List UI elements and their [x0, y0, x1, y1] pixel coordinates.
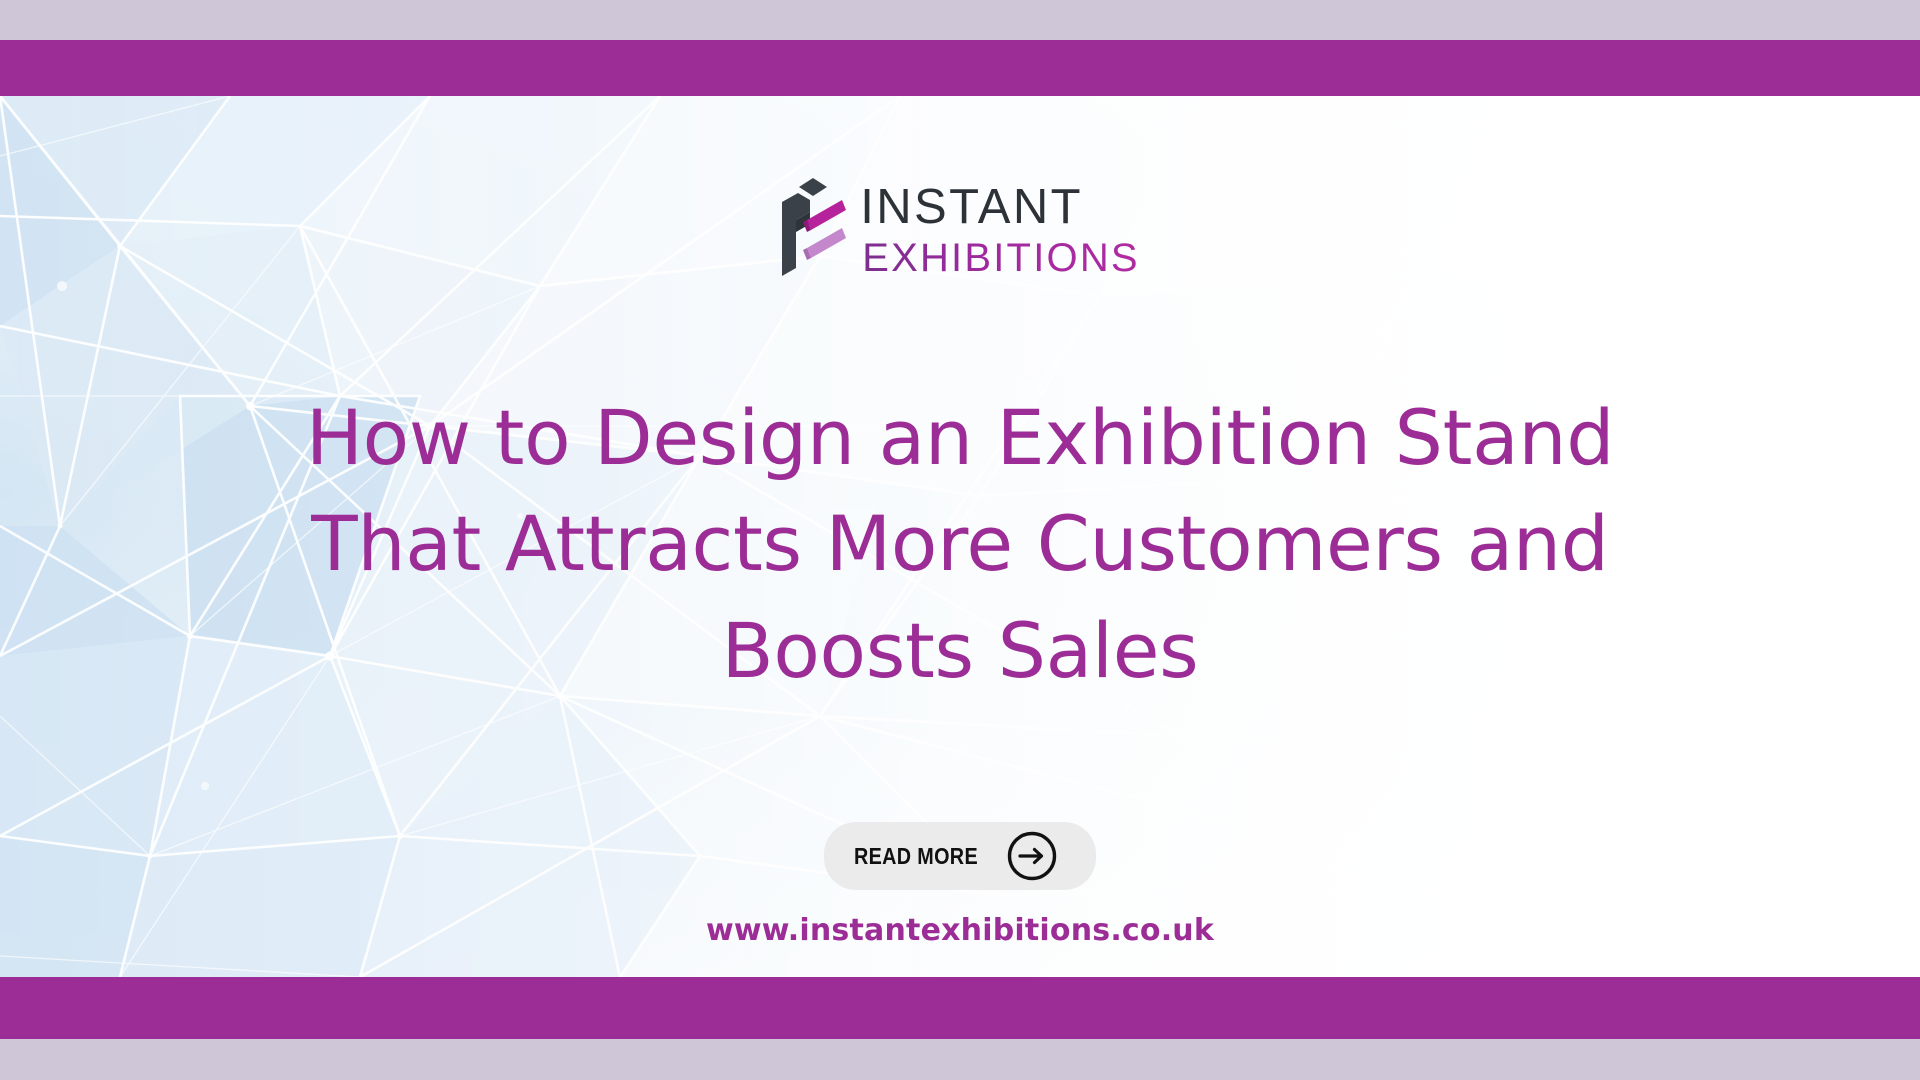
page-title: How to Design an Exhibition Stand That A…: [260, 385, 1660, 704]
read-more-cta-container: READ MORE: [0, 822, 1920, 890]
brand-logo[interactable]: INSTANT EXHIBITIONS: [0, 176, 1920, 284]
instant-exhibitions-mark-icon: [780, 176, 846, 284]
poster-canvas: INSTANT EXHIBITIONS How to Design an Exh…: [0, 0, 1920, 1080]
brand-name-secondary: EXHIBITIONS: [862, 238, 1140, 278]
website-url[interactable]: www.instantexhibitions.co.uk: [0, 913, 1920, 948]
top-accent-band: [0, 40, 1920, 96]
bottom-accent-band: [0, 977, 1920, 1039]
brand-name-primary: INSTANT: [860, 183, 1140, 232]
arrow-right-circle-icon: [1006, 830, 1058, 882]
read-more-label: READ MORE: [854, 843, 978, 870]
read-more-button[interactable]: READ MORE: [824, 822, 1096, 890]
